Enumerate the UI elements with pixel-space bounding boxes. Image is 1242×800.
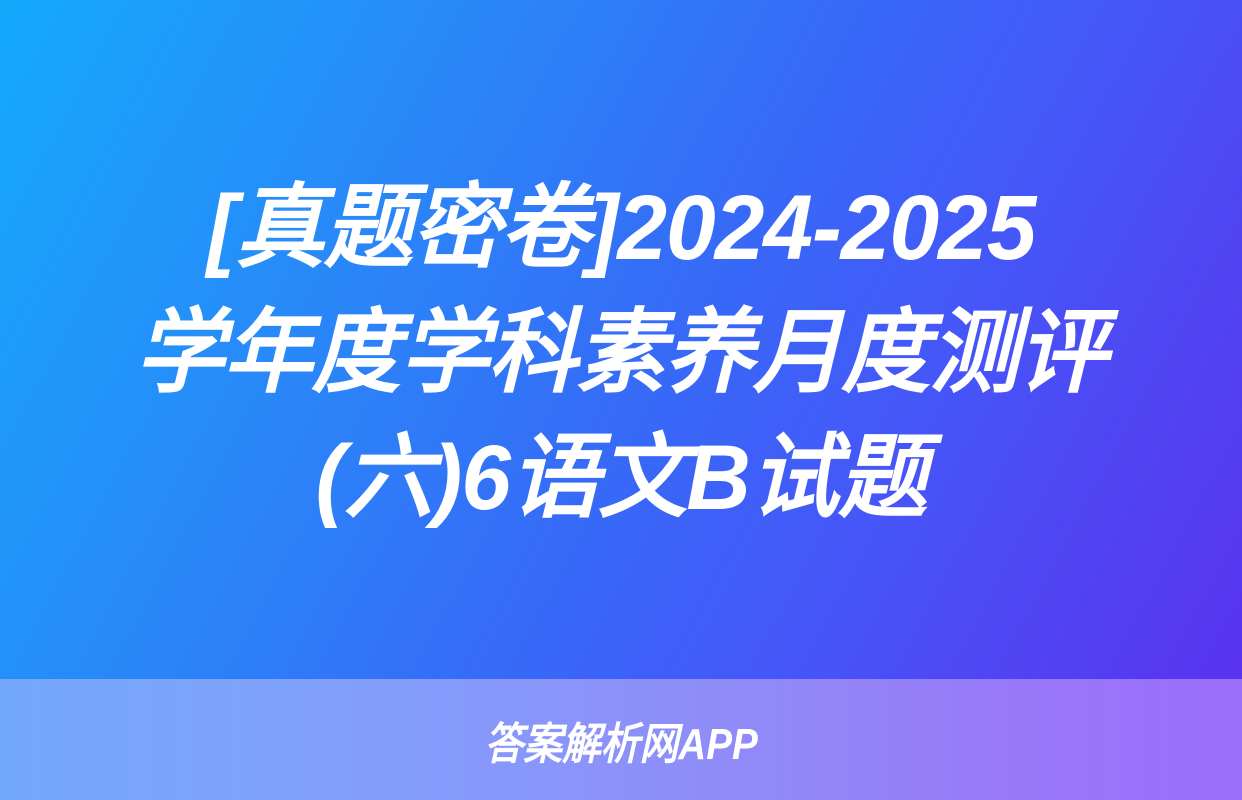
title-block: [真题密卷]2024-2025 学年度学科素养月度测评 (六)6语文B试题 (0, 0, 1242, 679)
title-line-1: [真题密卷]2024-2025 (207, 166, 1036, 291)
watermark-band: 答案解析网APP (0, 679, 1242, 800)
title-line-3: (六)6语文B试题 (315, 416, 926, 541)
promo-banner: [真题密卷]2024-2025 学年度学科素养月度测评 (六)6语文B试题 答案… (0, 0, 1242, 800)
watermark-label: 答案解析网APP (484, 708, 757, 772)
title-line-2: 学年度学科素养月度测评 (135, 291, 1106, 416)
